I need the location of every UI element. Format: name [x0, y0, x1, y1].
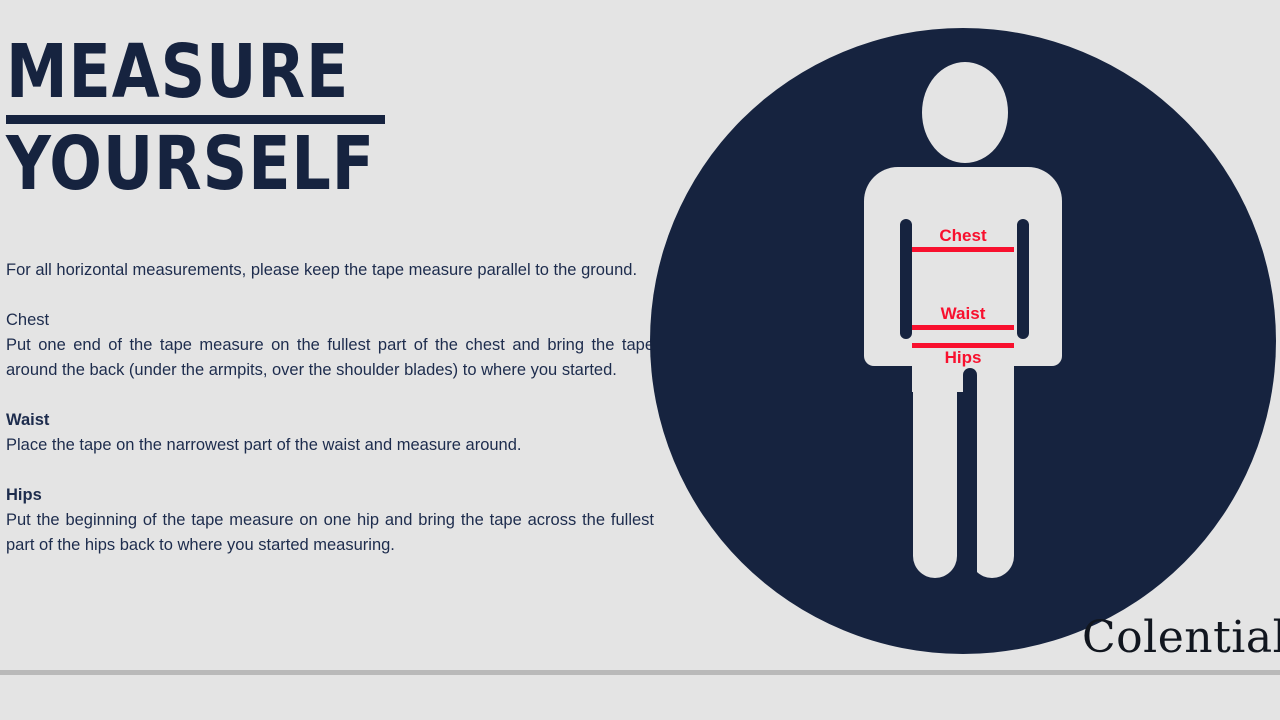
waist-measure-line [912, 325, 1014, 330]
figure-head-icon [922, 62, 1008, 163]
section-text-waist: Place the tape on the narrowest part of … [6, 433, 654, 458]
bottom-divider [0, 670, 1280, 675]
section-text-hips: Put the beginning of the tape measure on… [6, 508, 654, 558]
hips-measure-label: Hips [883, 349, 1043, 366]
figure-leg-separator-gap [963, 368, 977, 583]
chest-measure-label: Chest [883, 227, 1043, 244]
waist-measure-label: Waist [883, 305, 1043, 322]
title-line-yourself: YOURSELF [6, 130, 397, 198]
chest-measure-line [912, 247, 1014, 252]
paragraph-spacer [6, 383, 654, 408]
figure-left-leg-icon [913, 358, 957, 578]
paragraph-spacer [6, 283, 654, 308]
left-content-column: MEASURE YOURSELF For all horizontal meas… [0, 0, 668, 720]
section-heading-chest: Chest [6, 308, 654, 333]
instructions-body: For all horizontal measurements, please … [6, 258, 654, 558]
paragraph-spacer [6, 458, 654, 483]
intro-paragraph: For all horizontal measurements, please … [6, 258, 654, 283]
section-text-chest: Put one end of the tape measure on the f… [6, 333, 654, 383]
body-measurement-illustration: Chest Waist Hips [650, 28, 1280, 660]
brand-logo: Colential [1082, 612, 1280, 663]
section-heading-waist: Waist [6, 408, 654, 433]
page-title: MEASURE YOURSELF [6, 38, 426, 198]
title-line-measure: MEASURE [6, 38, 397, 106]
figure-torso-icon [864, 167, 1062, 366]
section-heading-hips: Hips [6, 483, 654, 508]
